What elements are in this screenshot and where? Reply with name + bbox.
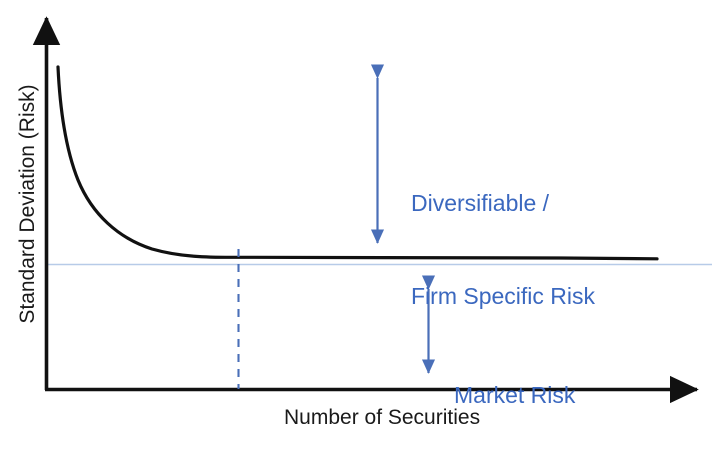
y-axis-label: Standard Deviation (Risk) (16, 59, 40, 349)
diversifiable-risk-line-2: Firm Specific Risk (411, 281, 595, 312)
diversifiable-risk-line-1: Diversifiable / (411, 188, 595, 219)
market-risk-annotation: Market Risk (454, 318, 575, 454)
market-risk-line-1: Market Risk (454, 380, 575, 411)
chart-canvas (0, 0, 720, 454)
risk-diversification-chart: Standard Deviation (Risk) Number of Secu… (0, 0, 720, 454)
x-axis-label: Number of Securities (284, 406, 480, 430)
